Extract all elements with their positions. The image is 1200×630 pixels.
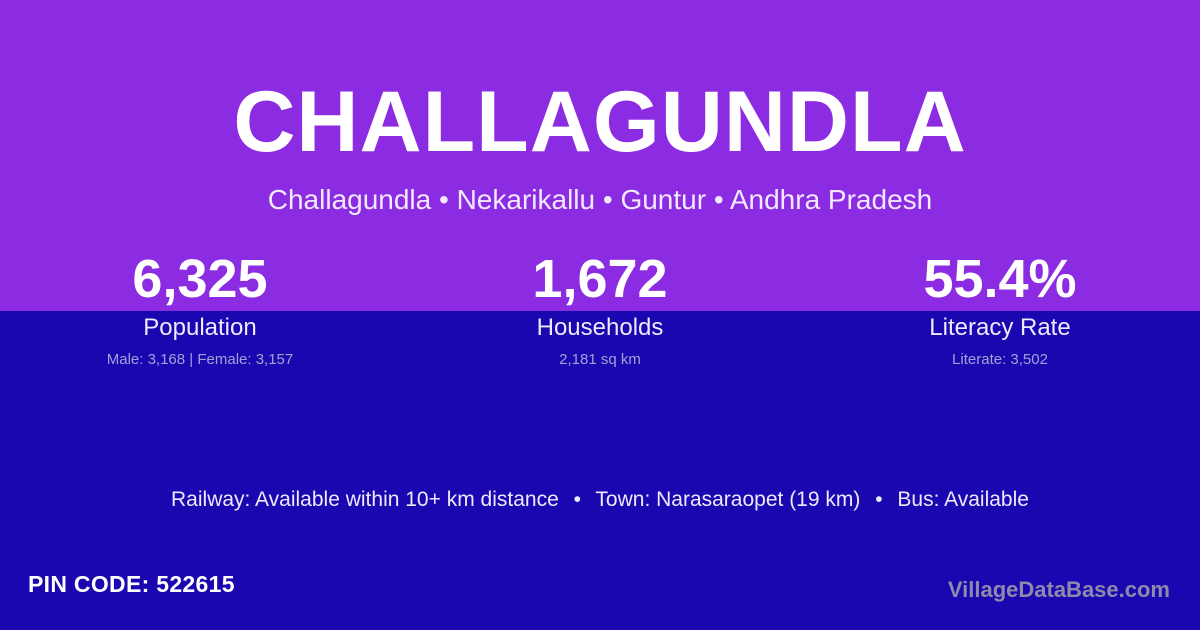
facility-separator: • xyxy=(866,486,891,514)
stats-row: 6,325 Population Male: 3,168 | Female: 3… xyxy=(0,248,1200,369)
stat-label: Literacy Rate xyxy=(800,314,1200,342)
stat-value: 6,325 xyxy=(0,248,400,310)
facility-separator: • xyxy=(565,486,590,514)
stat-literacy-rate: 55.4% Literacy Rate Literate: 3,502 xyxy=(800,248,1200,369)
stat-detail: 2,181 sq km xyxy=(400,351,800,369)
site-watermark: VillageDataBase.com xyxy=(948,577,1170,603)
stat-detail: Literate: 3,502 xyxy=(800,351,1200,369)
pin-code: PIN CODE: 522615 xyxy=(28,570,235,598)
stat-label: Population xyxy=(0,314,400,342)
stat-population: 6,325 Population Male: 3,168 | Female: 3… xyxy=(0,248,400,369)
facility-town: Town: Narasaraopet (19 km) xyxy=(595,488,860,511)
stat-households: 1,672 Households 2,181 sq km xyxy=(400,248,800,369)
village-info-card: CHALLAGUNDLA Challagundla • Nekarikallu … xyxy=(0,0,1200,630)
card-header: CHALLAGUNDLA Challagundla • Nekarikallu … xyxy=(0,0,1200,216)
stat-detail: Male: 3,168 | Female: 3,157 xyxy=(0,351,400,369)
stat-value: 55.4% xyxy=(800,248,1200,310)
facilities-line: Railway: Available within 10+ km distanc… xyxy=(0,486,1200,514)
stat-label: Households xyxy=(400,314,800,342)
card-footer: PIN CODE: 522615 VillageDataBase.com xyxy=(0,556,1200,630)
facility-bus: Bus: Available xyxy=(897,488,1029,511)
stat-value: 1,672 xyxy=(400,248,800,310)
breadcrumb: Challagundla • Nekarikallu • Guntur • An… xyxy=(0,165,1200,216)
facility-railway: Railway: Available within 10+ km distanc… xyxy=(171,488,559,511)
page-title: CHALLAGUNDLA xyxy=(0,0,1200,165)
